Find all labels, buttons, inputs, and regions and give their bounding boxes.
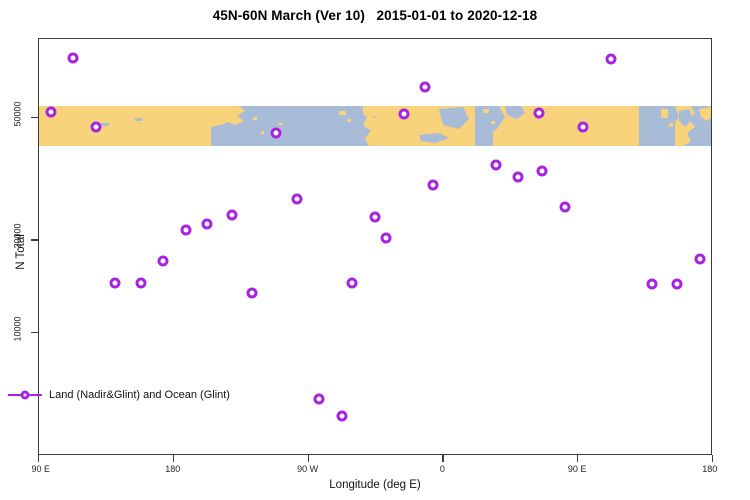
data-point: [606, 54, 617, 65]
data-point: [513, 172, 524, 183]
data-point: [694, 254, 705, 265]
data-point: [336, 410, 347, 421]
data-point: [314, 394, 325, 405]
data-point: [534, 107, 545, 118]
x-tick-mark: [577, 455, 578, 462]
y-tick-mark: [31, 239, 38, 240]
data-point: [270, 128, 281, 139]
legend-marker-sample: [8, 388, 42, 402]
x-tick-label: 90 E: [568, 464, 587, 474]
data-point: [490, 159, 501, 170]
data-point: [577, 121, 588, 132]
data-point: [90, 122, 101, 133]
data-point: [180, 224, 191, 235]
data-point: [347, 277, 358, 288]
legend-circle-icon: [21, 391, 30, 400]
y-axis-title: N Total: [15, 207, 27, 297]
land-masses: [39, 106, 711, 146]
legend-entry-label: Land (Nadir&Glint) and Ocean (Glint): [49, 389, 230, 401]
data-point: [381, 232, 392, 243]
y-tick-label: 10000: [0, 324, 30, 334]
x-tick-label: 180: [702, 464, 717, 474]
data-point: [369, 211, 380, 222]
x-tick-mark: [712, 455, 713, 462]
x-tick-mark: [38, 455, 39, 462]
data-point: [427, 179, 438, 190]
x-tick-label: 180: [165, 464, 180, 474]
x-tick-mark: [173, 455, 174, 462]
data-point: [559, 201, 570, 212]
data-point: [68, 53, 79, 64]
data-point: [537, 165, 548, 176]
y-tick-mark: [31, 332, 38, 333]
data-point: [201, 219, 212, 230]
data-point: [291, 193, 302, 204]
data-point: [110, 277, 121, 288]
x-tick-label: 90 W: [297, 464, 318, 474]
x-tick-label: 0: [440, 464, 445, 474]
data-point: [399, 108, 410, 119]
legend: Land (Nadir&Glint) and Ocean (Glint): [8, 388, 230, 402]
chart-title: 45N-60N March (Ver 10) 2015-01-01 to 202…: [0, 8, 750, 23]
x-tick-label: 90 E: [32, 464, 51, 474]
y-tick-label: 50000: [0, 109, 30, 119]
x-axis-title: Longitude (deg E): [0, 479, 750, 491]
y-tick-mark: [31, 117, 38, 118]
data-point: [646, 278, 657, 289]
chart-container: 45N-60N March (Ver 10) 2015-01-01 to 202…: [0, 0, 750, 500]
data-point: [246, 288, 257, 299]
data-point: [227, 210, 238, 221]
data-point: [672, 279, 683, 290]
data-point: [158, 255, 169, 266]
data-point: [45, 107, 56, 118]
x-tick-mark: [442, 455, 443, 462]
data-point: [135, 277, 146, 288]
x-tick-mark: [308, 455, 309, 462]
data-point: [420, 81, 431, 92]
